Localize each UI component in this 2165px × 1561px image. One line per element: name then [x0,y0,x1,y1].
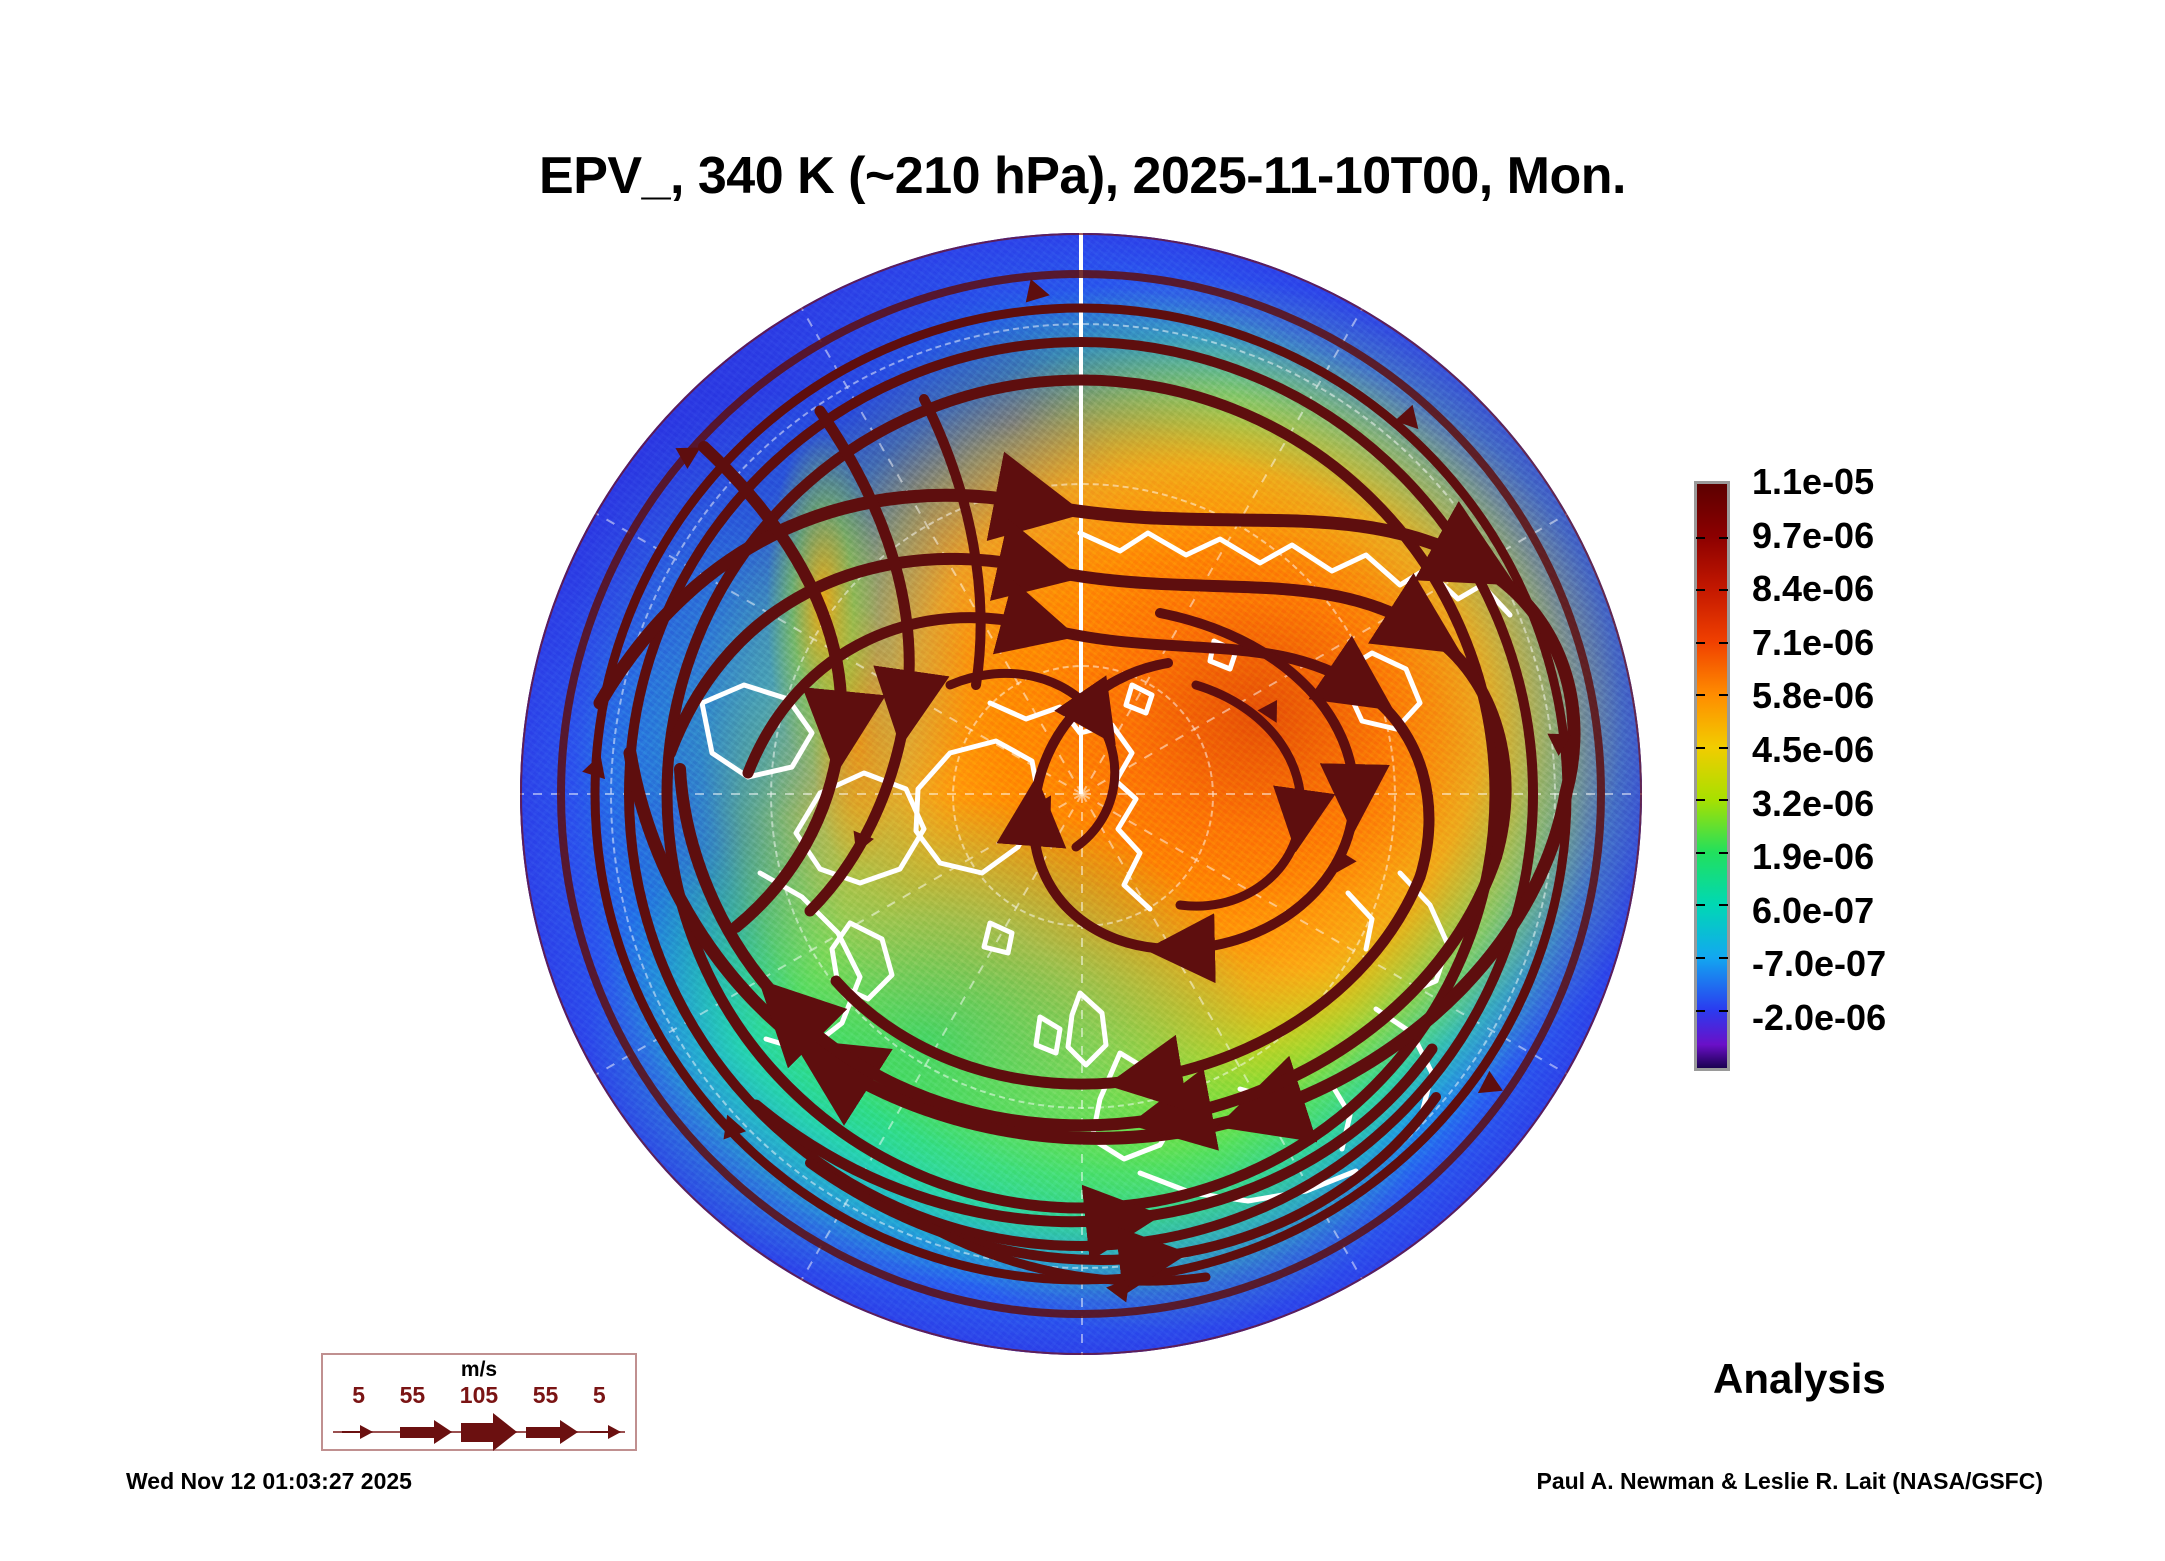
wind-legend-values: 5 55 105 55 5 [323,1382,635,1409]
wind-arrow-105 [461,1413,517,1451]
wind-speed-legend: m/s 5 55 105 55 5 [321,1353,637,1451]
wind-legend-unit: m/s [323,1358,635,1382]
colorbar-label: 8.4e-06 [1752,562,1886,616]
polar-map[interactable] [520,233,1642,1355]
colorbar-group[interactable]: 1.1e-05 9.7e-06 8.4e-06 7.1e-06 5.8e-06 … [1694,481,1730,1071]
colorbar-label: 4.5e-06 [1752,723,1886,777]
wind-legend-value: 105 [460,1382,498,1409]
colorbar-label: 1.9e-06 [1752,830,1886,884]
colorbar-label: 7.1e-06 [1752,616,1886,670]
analysis-label: Analysis [1713,1355,1886,1403]
colorbar-labels: 1.1e-05 9.7e-06 8.4e-06 7.1e-06 5.8e-06 … [1752,455,1886,1045]
page-title: EPV_, 340 K (~210 hPa), 2025-11-10T00, M… [0,146,2165,206]
colorbar[interactable] [1694,481,1730,1071]
map-outline [520,233,1642,1355]
wind-arrow-55-right [526,1420,578,1444]
wind-legend-value: 55 [533,1382,559,1409]
colorbar-label: -7.0e-07 [1752,937,1886,991]
wind-legend-value: 55 [400,1382,426,1409]
colorbar-label: 1.1e-05 [1752,455,1886,509]
colorbar-label: 9.7e-06 [1752,509,1886,563]
generation-timestamp: Wed Nov 12 01:03:27 2025 [126,1468,412,1495]
colorbar-label: 3.2e-06 [1752,777,1886,831]
wind-legend-arrows [333,1417,625,1447]
wind-legend-value: 5 [593,1382,606,1409]
wind-arrow-5-left [342,1425,373,1439]
wind-legend-value: 5 [352,1382,365,1409]
colorbar-label: 5.8e-06 [1752,669,1886,723]
colorbar-label: 6.0e-07 [1752,884,1886,938]
wind-arrow-55-left [400,1420,452,1444]
wind-arrow-5-right [590,1425,621,1439]
colorbar-label: -2.0e-06 [1752,991,1886,1045]
author-credit: Paul A. Newman & Leslie R. Lait (NASA/GS… [1536,1468,2043,1495]
